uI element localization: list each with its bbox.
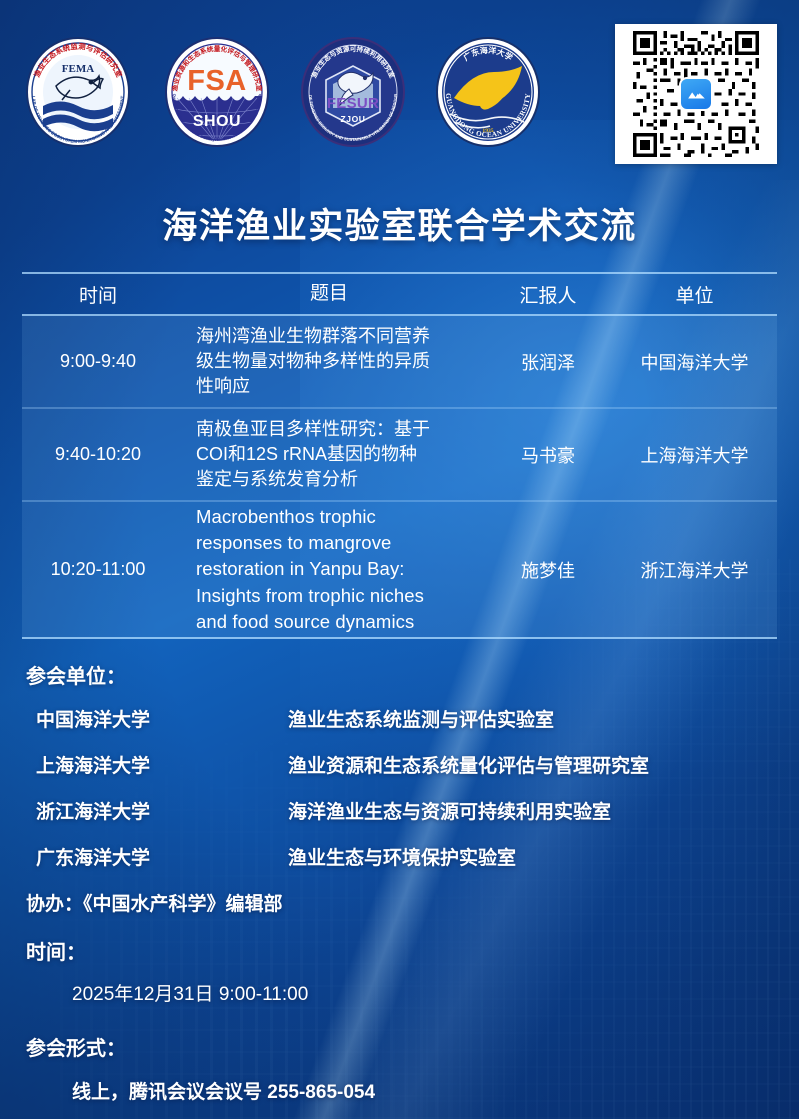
list-item: 中国海洋大学 渔业生态系统监测与评估实验室	[26, 705, 776, 732]
co-organizer-line: 协办：《中国水产科学》编辑部	[26, 889, 776, 916]
session-time: 9:00-9:40	[22, 351, 174, 372]
session-unit: 中国海洋大学	[612, 349, 777, 375]
schedule-header-row: 时间 题目 汇报人 单位	[22, 272, 777, 316]
session-title-line: COI和12S rRNA基因的物种	[196, 442, 484, 467]
list-item: 上海海洋大学 渔业资源和生态系统量化评估与管理研究室	[26, 751, 776, 778]
column-header-speaker: 汇报人	[484, 281, 612, 308]
poster-root: FEMA 渔业生态系统监测与评估研究室 LAB OF FISHERIES ECO…	[0, 0, 799, 1119]
participant-lab: 渔业生态与环境保护实验室	[288, 843, 776, 870]
qr-center-logo	[679, 77, 713, 111]
fesur-acronym: FESUR	[327, 95, 379, 112]
mode-value: 线上，腾讯会议会议号 255-865-054	[26, 1077, 776, 1104]
participant-university: 上海海洋大学	[36, 751, 288, 778]
fema-acronym: FEMA	[62, 63, 94, 75]
session-title: 海州湾渔业生物群落不同营养 级生物量对物种多样性的异质 性响应	[174, 324, 484, 398]
participant-university: 广东海洋大学	[36, 843, 288, 870]
session-speaker: 施梦佳	[484, 557, 612, 583]
fsa-acronym: FSA	[187, 65, 247, 97]
mode-label: 参会形式：	[26, 1032, 776, 1061]
column-header-time: 时间	[22, 281, 174, 308]
participant-lab: 渔业生态系统监测与评估实验室	[288, 705, 776, 732]
session-speaker: 马书豪	[484, 442, 612, 468]
session-time: 10:20-11:00	[22, 559, 174, 580]
session-speaker: 张润泽	[484, 349, 612, 375]
session-title-line: and food source dynamics	[196, 609, 484, 635]
column-header-unit: 单位	[612, 281, 777, 308]
session-title-line: Insights from trophic niches	[196, 583, 484, 609]
table-row: 9:40-10:20 南极鱼亚目多样性研究：基于 COI和12S rRNA基因的…	[22, 409, 777, 502]
participant-lab: 海洋渔业生态与资源可持续利用实验室	[288, 797, 776, 824]
session-title-line: restoration in Yanpu Bay:	[196, 556, 484, 582]
session-title: 南极鱼亚目多样性研究：基于 COI和12S rRNA基因的物种 鉴定与系统发育分…	[174, 417, 484, 491]
session-unit: 上海海洋大学	[612, 442, 777, 468]
meeting-qr-code[interactable]	[615, 24, 777, 164]
zjou-acronym: ZJOU	[340, 114, 365, 124]
participant-university: 中国海洋大学	[36, 705, 288, 732]
session-title-line: Macrobenthos trophic	[196, 504, 484, 530]
fema-logo: FEMA 渔业生态系统监测与评估研究室 LAB OF FISHERIES ECO…	[18, 28, 138, 156]
session-title-line: responses to mangrove	[196, 530, 484, 556]
info-block: 参会单位： 中国海洋大学 渔业生态系统监测与评估实验室 上海海洋大学 渔业资源和…	[26, 660, 776, 1104]
session-title-line: 性响应	[196, 374, 484, 399]
column-header-title: 题目	[174, 281, 484, 307]
list-item: 广东海洋大学 渔业生态与环境保护实验室	[26, 843, 776, 870]
table-row: 10:20-11:00 Macrobenthos trophic respons…	[22, 502, 777, 639]
guangdong-ocean-university-logo: 1935 广东海洋大学 GUANGDONG OCEAN UNIVERSITY	[428, 28, 548, 156]
participant-university: 浙江海洋大学	[36, 797, 288, 824]
time-label: 时间：	[26, 936, 776, 965]
fesur-zjou-logo: FESUR ZJOU 渔业生态与资源可持续利用研究室 LAB OF FISHER…	[293, 28, 413, 156]
participant-lab: 渔业资源和生态系统量化评估与管理研究室	[288, 751, 776, 778]
mountain-glyph	[686, 84, 707, 105]
session-title-line: 级生物量对物种多样性的异质	[196, 349, 484, 374]
session-unit: 浙江海洋大学	[612, 557, 777, 583]
shou-acronym: SHOU	[193, 113, 241, 130]
schedule-table: 时间 题目 汇报人 单位 9:00-9:40 海州湾渔业生物群落不同营养 级生物…	[22, 272, 777, 639]
session-time: 9:40-10:20	[22, 444, 174, 465]
participants-heading: 参会单位：	[26, 660, 776, 689]
list-item: 浙江海洋大学 海洋渔业生态与资源可持续利用实验室	[26, 797, 776, 824]
fsa-shou-logo: FSA SHOU 渔业资源和生态系统量化评估与管理研究室 Quantitativ…	[157, 28, 277, 156]
session-title-line: 南极鱼亚目多样性研究：基于	[196, 417, 484, 442]
session-title-line: 鉴定与系统发育分析	[196, 467, 484, 492]
table-row: 9:00-9:40 海州湾渔业生物群落不同营养 级生物量对物种多样性的异质 性响…	[22, 316, 777, 409]
header-bar: FEMA 渔业生态系统监测与评估研究室 LAB OF FISHERIES ECO…	[0, 0, 799, 180]
session-title: Macrobenthos trophic responses to mangro…	[174, 504, 484, 635]
poster-title: 海洋渔业实验室联合学术交流	[0, 198, 799, 249]
time-value: 2025年12月31日 9:00-11:00	[26, 979, 776, 1006]
session-title-line: 海州湾渔业生物群落不同营养	[196, 324, 484, 349]
